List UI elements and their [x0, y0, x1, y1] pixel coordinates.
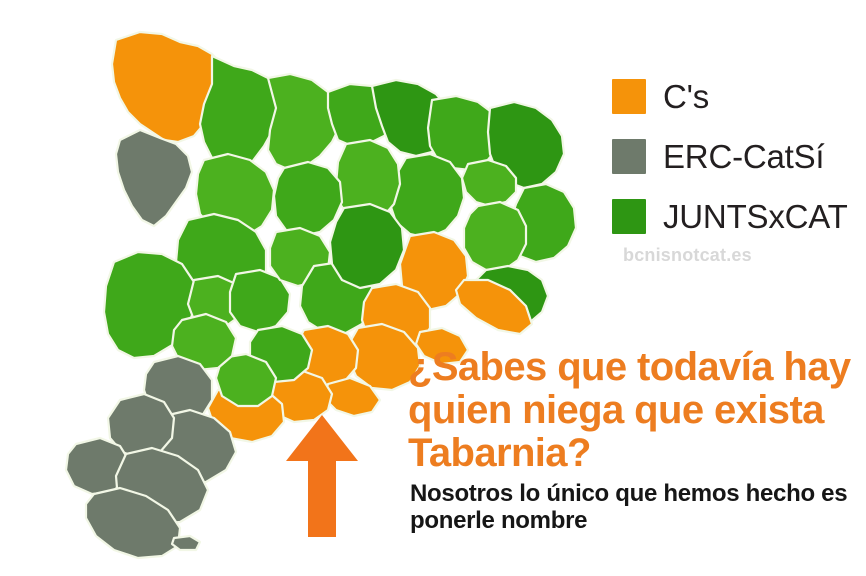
region-alt-urgell[interactable]: [268, 74, 340, 170]
subline-text: Nosotros lo único que hemos hecho es pon…: [410, 481, 866, 535]
legend-label-cs: C's: [663, 80, 709, 113]
region-bages[interactable]: [330, 204, 404, 288]
legend-label-junts: JUNTSxCAT: [663, 200, 848, 233]
headline-text: ¿Sabes que todavía hay quien niega que e…: [408, 346, 866, 474]
region-delta-islet: [172, 536, 200, 550]
legend-label-erc: ERC-CatSí: [663, 140, 824, 173]
watermark-bcnisnotcat: bcnisnotcat.es: [623, 245, 752, 266]
legend-item-erc[interactable]: ERC-CatSí: [612, 126, 866, 186]
legend: C's ERC-CatSí JUNTSxCAT: [612, 66, 866, 246]
legend-item-junts[interactable]: JUNTSxCAT: [612, 186, 866, 246]
region-girones[interactable]: [464, 202, 526, 270]
legend-swatch-cs-icon: [612, 79, 646, 114]
legend-swatch-junts-icon: [612, 199, 646, 234]
region-solsones[interactable]: [274, 162, 342, 236]
region-alta-ribagorca[interactable]: [116, 130, 192, 226]
up-arrow-icon: [284, 413, 360, 539]
meme-canvas: C's ERC-CatSí JUNTSxCAT bcnisnotcat.es ¿…: [0, 0, 866, 576]
legend-swatch-erc-icon: [612, 139, 646, 174]
region-pla-de-lestany[interactable]: [462, 160, 516, 206]
up-arrow-svg: [284, 413, 360, 539]
legend-item-cs[interactable]: C's: [612, 66, 866, 126]
